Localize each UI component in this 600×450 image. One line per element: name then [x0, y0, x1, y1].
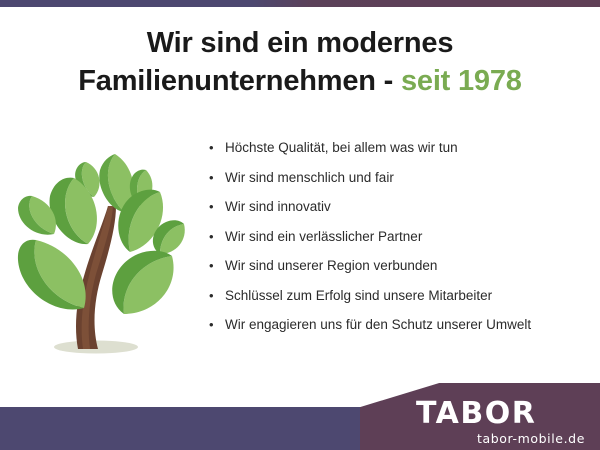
bullet-marker-icon: • [209, 318, 225, 331]
leaf-lower-right [112, 251, 173, 314]
list-item-label: Wir sind unserer Region verbunden [225, 259, 437, 274]
list-item: • Wir sind unserer Region verbunden [209, 259, 594, 289]
list-item-label: Schlüssel zum Erfolg sind unsere Mitarbe… [225, 289, 492, 304]
top-accent-bar [0, 0, 600, 7]
list-item-label: Wir sind menschlich und fair [225, 171, 394, 186]
list-item: • Wir sind innovativ [209, 200, 594, 230]
list-item: • Wir sind menschlich und fair [209, 171, 594, 201]
list-item-label: Wir engagieren uns für den Schutz unsere… [225, 318, 531, 333]
bullet-marker-icon: • [209, 230, 225, 243]
list-item: • Wir sind ein verlässlicher Partner [209, 230, 594, 260]
headline-line-2: Familienunternehmen - seit 1978 [20, 62, 580, 100]
brand-logo-wordmark: TABOR [416, 398, 586, 430]
headline-accent-seit-1978: seit 1978 [401, 65, 522, 97]
list-item: • Wir engagieren uns für den Schutz unse… [209, 318, 594, 348]
headline-line-2-plain: Familienunternehmen - [78, 65, 401, 97]
bullet-marker-icon: • [209, 171, 225, 184]
list-item-label: Wir sind ein verlässlicher Partner [225, 230, 422, 245]
brand-logo: TABOR tabor-mobile.de [416, 398, 586, 447]
bullet-marker-icon: • [209, 200, 225, 213]
tree-illustration [12, 148, 192, 373]
list-item: • Schlüssel zum Erfolg sind unsere Mitar… [209, 289, 594, 319]
bullet-marker-icon: • [209, 259, 225, 272]
slide-canvas: Wir sind ein modernes Familienunternehme… [0, 0, 600, 450]
bullet-marker-icon: • [209, 141, 225, 154]
list-item-label: Höchste Qualität, bei allem was wir tun [225, 141, 458, 156]
leaf-lower-left [18, 240, 86, 310]
bullet-marker-icon: • [209, 289, 225, 302]
list-item: • Höchste Qualität, bei allem was wir tu… [209, 141, 594, 171]
headline-line-1: Wir sind ein modernes [20, 24, 580, 62]
page-title: Wir sind ein modernes Familienunternehme… [20, 24, 580, 101]
value-list: • Höchste Qualität, bei allem was wir tu… [209, 141, 594, 348]
list-item-label: Wir sind innovativ [225, 200, 331, 215]
brand-logo-url: tabor-mobile.de [416, 430, 586, 448]
